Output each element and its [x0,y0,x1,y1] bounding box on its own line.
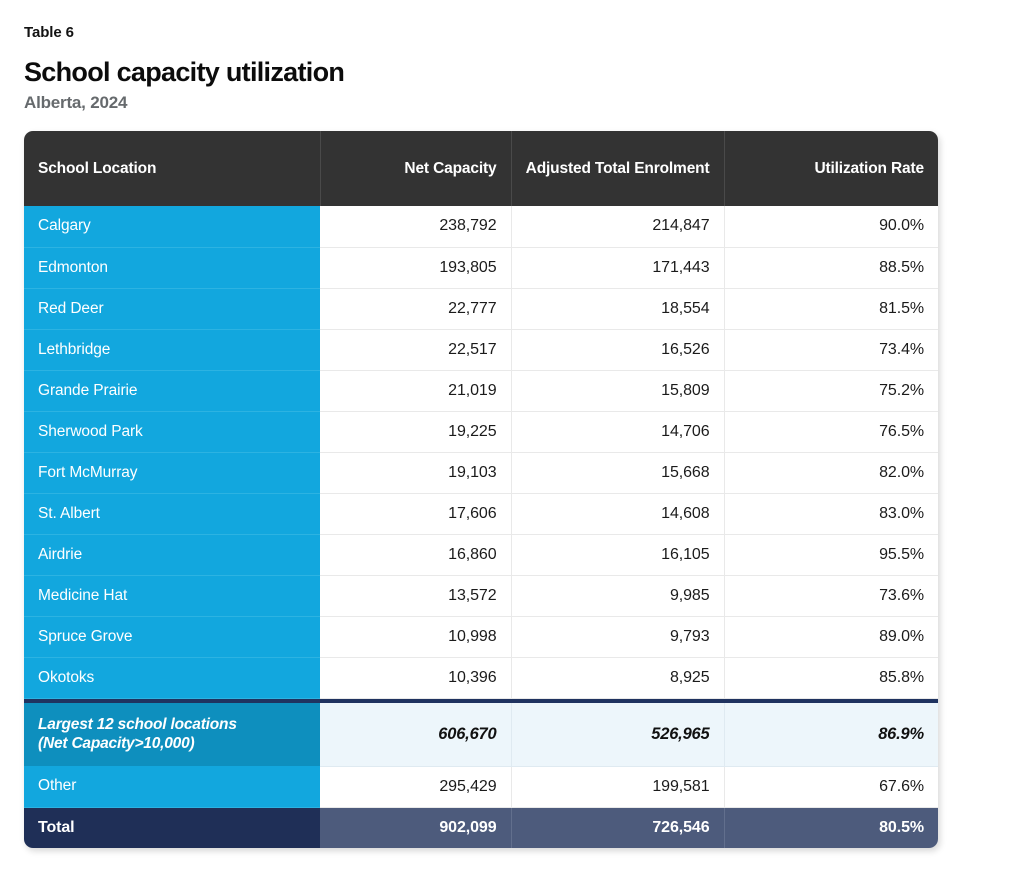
cell-location: Red Deer [24,288,320,329]
table-container: School Location Net Capacity Adjusted To… [24,131,938,848]
table-number-label: Table 6 [24,24,1024,41]
column-header-utilization-rate[interactable]: Utilization Rate [724,131,938,206]
cell-net-capacity: 10,998 [320,616,511,657]
cell-total-label: Total [24,807,320,848]
cell-location: Grande Prairie [24,370,320,411]
cell-location: Spruce Grove [24,616,320,657]
cell-utilization-rate: 82.0% [724,452,938,493]
cell-utilization-rate: 83.0% [724,493,938,534]
table-row: Fort McMurray19,10315,66882.0% [24,452,938,493]
table-row: Lethbridge22,51716,52673.4% [24,329,938,370]
cell-adjusted-total-enrolment: 15,668 [511,452,724,493]
cell-utilization-rate: 85.8% [724,657,938,698]
column-header-location[interactable]: School Location [24,131,320,206]
cell-location: Fort McMurray [24,452,320,493]
table-row: Grande Prairie21,01915,80975.2% [24,370,938,411]
page-subtitle: Alberta, 2024 [24,93,1024,113]
cell-location: Other [24,766,320,807]
cell-net-capacity: 13,572 [320,575,511,616]
cell-utilization-rate: 90.0% [724,206,938,247]
cell-net-capacity: 238,792 [320,206,511,247]
cell-location: Okotoks [24,657,320,698]
cell-adjusted-total-enrolment: 16,105 [511,534,724,575]
table-row: Sherwood Park19,22514,70676.5% [24,411,938,452]
table-row: Airdrie16,86016,10595.5% [24,534,938,575]
cell-net-capacity: 16,860 [320,534,511,575]
cell-net-capacity: 21,019 [320,370,511,411]
table-row: Spruce Grove10,9989,79389.0% [24,616,938,657]
cell-net-capacity: 22,517 [320,329,511,370]
capacity-table: School Location Net Capacity Adjusted To… [24,131,938,848]
cell-net-capacity: 193,805 [320,247,511,288]
cell-adjusted-total-enrolment: 199,581 [511,766,724,807]
cell-adjusted-total-enrolment: 14,608 [511,493,724,534]
page-title: School capacity utilization [24,57,1024,87]
table-row: Red Deer22,77718,55481.5% [24,288,938,329]
cell-adjusted-total-enrolment: 171,443 [511,247,724,288]
cell-utilization-rate: 89.0% [724,616,938,657]
table-body: Calgary238,792214,84790.0%Edmonton193,80… [24,206,938,848]
cell-utilization-rate: 67.6% [724,766,938,807]
cell-adjusted-total-enrolment: 214,847 [511,206,724,247]
table-row: St. Albert17,60614,60883.0% [24,493,938,534]
cell-utilization-rate: 73.6% [724,575,938,616]
cell-utilization-rate: 88.5% [724,247,938,288]
cell-summary-net-capacity: 606,670 [320,703,511,766]
cell-location: Edmonton [24,247,320,288]
column-header-net-capacity[interactable]: Net Capacity [320,131,511,206]
cell-utilization-rate: 95.5% [724,534,938,575]
cell-location: St. Albert [24,493,320,534]
cell-total-utilization-rate: 80.5% [724,807,938,848]
title-block: Table 6 School capacity utilization Albe… [24,24,1024,113]
cell-utilization-rate: 76.5% [724,411,938,452]
cell-location: Medicine Hat [24,575,320,616]
cell-location: Lethbridge [24,329,320,370]
cell-location: Calgary [24,206,320,247]
cell-net-capacity: 10,396 [320,657,511,698]
cell-summary-utilization-rate: 86.9% [724,703,938,766]
cell-adjusted-total-enrolment: 9,793 [511,616,724,657]
table-row: Edmonton193,805171,44388.5% [24,247,938,288]
table-row: Medicine Hat13,5729,98573.6% [24,575,938,616]
cell-adjusted-total-enrolment: 9,985 [511,575,724,616]
cell-summary-label: Largest 12 school locations(Net Capacity… [24,703,320,766]
cell-adjusted-total-enrolment: 8,925 [511,657,724,698]
summary-label-line1: Largest 12 school locations [38,716,237,733]
summary-row-largest: Largest 12 school locations(Net Capacity… [24,703,938,766]
table-row: Okotoks10,3968,92585.8% [24,657,938,698]
total-row: Total902,099726,54680.5% [24,807,938,848]
column-header-adjusted-total-enrolment[interactable]: Adjusted Total Enrolment [511,131,724,206]
cell-net-capacity: 295,429 [320,766,511,807]
cell-utilization-rate: 81.5% [724,288,938,329]
cell-adjusted-total-enrolment: 18,554 [511,288,724,329]
cell-summary-adjusted-total-enrolment: 526,965 [511,703,724,766]
cell-adjusted-total-enrolment: 14,706 [511,411,724,452]
cell-adjusted-total-enrolment: 15,809 [511,370,724,411]
cell-adjusted-total-enrolment: 16,526 [511,329,724,370]
cell-net-capacity: 22,777 [320,288,511,329]
table-page: Table 6 School capacity utilization Albe… [0,0,1024,877]
cell-location: Airdrie [24,534,320,575]
summary-row-other: Other295,429199,58167.6% [24,766,938,807]
table-header-row: School Location Net Capacity Adjusted To… [24,131,938,206]
cell-utilization-rate: 73.4% [724,329,938,370]
cell-total-adjusted-total-enrolment: 726,546 [511,807,724,848]
table-row: Calgary238,792214,84790.0% [24,206,938,247]
cell-utilization-rate: 75.2% [724,370,938,411]
cell-net-capacity: 19,103 [320,452,511,493]
cell-net-capacity: 19,225 [320,411,511,452]
table-header: School Location Net Capacity Adjusted To… [24,131,938,206]
cell-location: Sherwood Park [24,411,320,452]
summary-label-line2: (Net Capacity>10,000) [38,735,194,752]
cell-net-capacity: 17,606 [320,493,511,534]
cell-total-net-capacity: 902,099 [320,807,511,848]
